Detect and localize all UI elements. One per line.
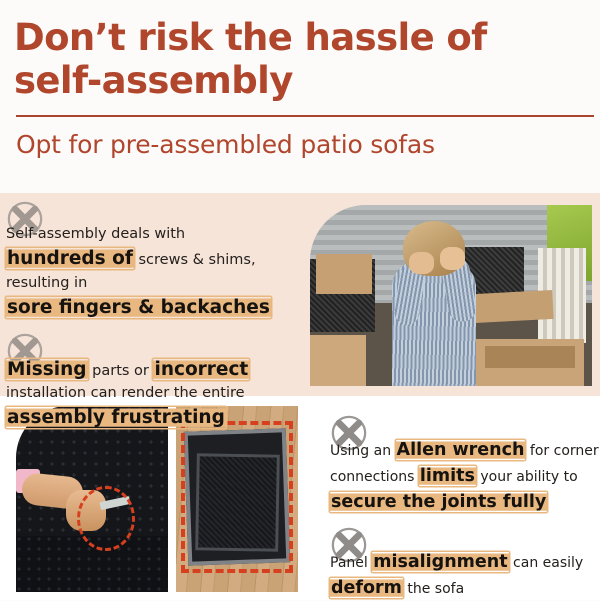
infographic-root: Don’t risk the hassle of self-assembly O… — [0, 0, 600, 600]
bullet-text: Self-assembly deals with hundreds of scr… — [0, 224, 306, 322]
annotation-circle — [77, 486, 135, 551]
photo-misaligned-panel — [176, 406, 298, 592]
cardboard-box — [310, 335, 366, 386]
bullet-list-lower-right: Using an Allen wrench for corner connect… — [322, 414, 600, 601]
plain-phrase: installation can render the entire — [6, 385, 245, 401]
bullet-item: Self-assembly deals with hundreds of scr… — [0, 200, 306, 322]
cardboard-box — [316, 254, 372, 294]
bullet-text: Missing parts or incorrect installation … — [0, 356, 306, 432]
plain-phrase: Panel — [330, 555, 372, 571]
bullet-list-upper-left: Self-assembly deals with hundreds of scr… — [0, 200, 306, 432]
bullet-item: Panel misalignment can easily deform the… — [322, 526, 600, 601]
woman-hand-right — [440, 247, 465, 271]
highlighted-phrase: Allen wrench — [396, 440, 526, 460]
highlighted-phrase: hundreds of — [6, 248, 134, 269]
bullet-item: Using an Allen wrench for corner connect… — [322, 414, 600, 516]
plain-phrase: your ability to — [476, 469, 578, 485]
highlighted-phrase: limits — [419, 466, 476, 486]
highlighted-phrase: assembly frustrating — [6, 407, 226, 428]
bullet-text: Panel misalignment can easily deform the… — [322, 550, 600, 601]
page-title: Don’t risk the hassle of self-assembly — [14, 16, 586, 103]
plain-phrase: parts or — [88, 363, 154, 379]
plain-phrase: can easily — [509, 555, 584, 571]
photo-frustrated-woman — [310, 205, 592, 386]
highlighted-phrase: misalignment — [372, 552, 508, 572]
woman-hand-left — [409, 252, 434, 274]
highlighted-phrase: secure the joints fully — [330, 492, 547, 512]
page-subtitle: Opt for pre-assembled patio sofas — [16, 130, 586, 160]
highlighted-phrase: sore fingers & backaches — [6, 297, 271, 318]
annotation-rectangle — [181, 421, 293, 574]
plain-phrase: Using an — [330, 443, 396, 459]
plain-phrase: Self-assembly deals with — [6, 226, 185, 242]
bullet-item: Missing parts or incorrect installation … — [0, 332, 306, 432]
highlighted-phrase: Missing — [6, 359, 88, 380]
cardboard-box — [485, 346, 575, 368]
plain-phrase: the sofa — [403, 581, 464, 597]
cardboard-box — [473, 290, 553, 323]
photo-allen-wrench-hand — [16, 406, 168, 592]
highlighted-phrase: deform — [330, 578, 403, 598]
highlighted-phrase: incorrect — [153, 359, 249, 380]
header-section: Don’t risk the hassle of self-assembly O… — [0, 0, 600, 193]
bullet-text: Using an Allen wrench for corner connect… — [322, 438, 600, 516]
title-divider — [16, 115, 594, 117]
